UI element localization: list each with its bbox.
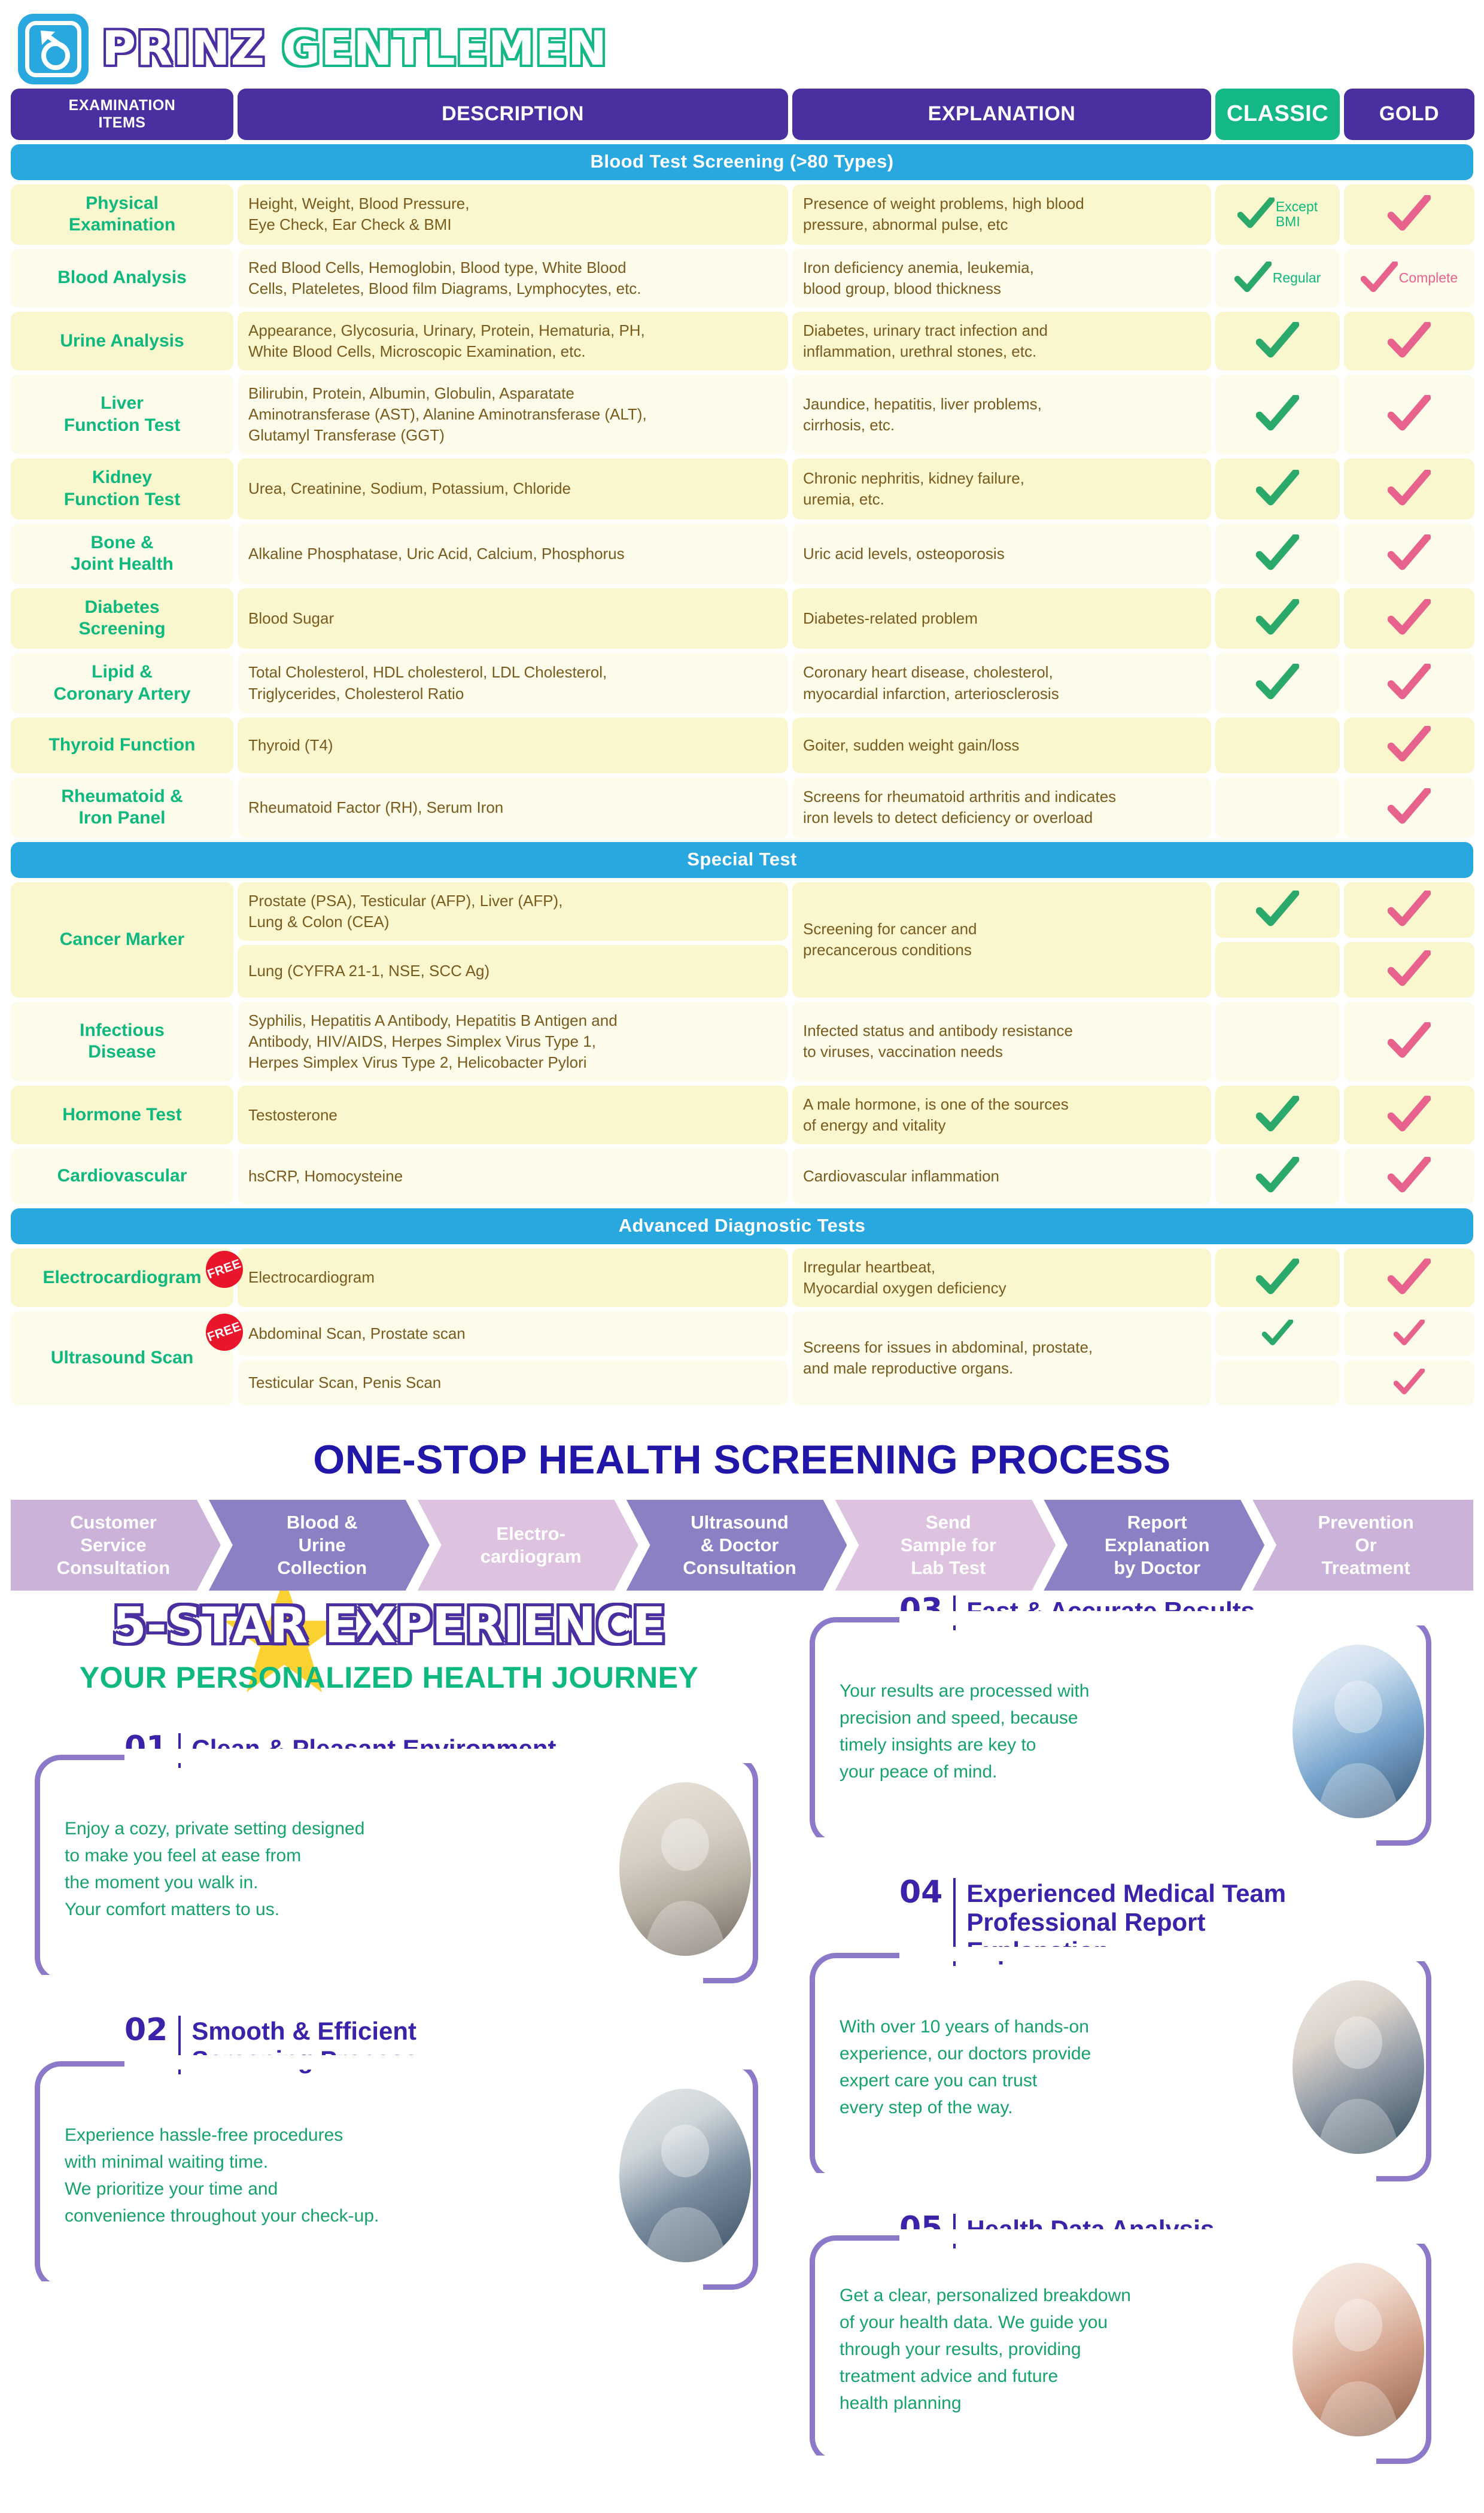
table-row-description: Syphilis, Hepatitis A Antibody, Hepatiti… xyxy=(238,1002,788,1081)
gold-check-cell xyxy=(1344,777,1474,838)
gold-check-cell xyxy=(1344,882,1474,938)
classic-check-cell xyxy=(1215,718,1340,773)
table-row-item: InfectiousDisease xyxy=(11,1002,233,1081)
table-row-description: Rheumatoid Factor (RH), Serum Iron xyxy=(238,777,788,838)
process-step[interactable]: Ultrasound& DoctorConsultation xyxy=(627,1500,847,1591)
brand-name-gentlemen: GENTLEMEN xyxy=(282,22,607,76)
table-row: Lipid &Coronary Artery Total Cholesterol… xyxy=(11,653,1473,713)
header-examination-items: EXAMINATION ITEMS xyxy=(11,89,233,140)
photo-figure xyxy=(1293,2263,1424,2436)
gold-check-cell xyxy=(1344,312,1474,370)
gold-check-cell xyxy=(1344,458,1474,519)
table-row-item: Cancer Marker xyxy=(11,882,233,998)
process-step[interactable]: ReportExplanationby Doctor xyxy=(1044,1500,1264,1591)
classic-check-cell xyxy=(1215,1086,1340,1144)
feature-text: With over 10 years of hands-onexperience… xyxy=(840,2013,1282,2121)
process-step[interactable]: CustomerServiceConsultation xyxy=(11,1500,221,1591)
table-row-description: Testosterone xyxy=(238,1086,788,1144)
table-row-description: Red Blood Cells, Hemoglobin, Blood type,… xyxy=(238,249,788,308)
table-row-item: Ultrasound ScanFREE xyxy=(11,1311,233,1405)
gold-check-cell xyxy=(1344,718,1474,773)
feature-text: Experience hassle-free procedureswith mi… xyxy=(65,2122,609,2229)
feature-card-body: Get a clear, personalized breakdownof yo… xyxy=(793,2235,1466,2464)
feature-card-body: Enjoy a cozy, private setting designedto… xyxy=(18,1755,793,1983)
feature-number: 02 xyxy=(124,2014,168,2046)
classic-check-cell xyxy=(1215,882,1340,938)
table-row-description: hsCRP, Homocysteine xyxy=(238,1148,788,1204)
table-row-description: Total Cholesterol, HDL cholesterol, LDL … xyxy=(238,653,788,713)
clinic-lounge-photo xyxy=(619,1782,751,1956)
five-star-heading: 5-STAR EXPERIENCE YOUR PERSONALIZED HEAL… xyxy=(18,1591,760,1695)
table-row-item: LiverFunction Test xyxy=(11,375,233,454)
section-band: Special Test xyxy=(11,842,1473,878)
section-band: Advanced Diagnostic Tests xyxy=(11,1208,1473,1244)
process-step[interactable]: PreventionOrTreatment xyxy=(1252,1500,1473,1591)
doctor-consult-photo xyxy=(1293,1980,1424,2154)
table-row: Cardiovascular hsCRP, Homocysteine Cardi… xyxy=(11,1148,1473,1204)
table-row-explanation: Screening for cancer andprecancerous con… xyxy=(792,882,1211,998)
table-row-explanation: Diabetes-related problem xyxy=(792,588,1211,649)
table-row-item: Rheumatoid &Iron Panel xyxy=(11,777,233,838)
feature-card-body: Experience hassle-free procedureswith mi… xyxy=(18,2061,793,2290)
table-row-item: DiabetesScreening xyxy=(11,588,233,649)
table-row-description: Alkaline Phosphatase, Uric Acid, Calcium… xyxy=(238,524,788,584)
table-row-item: Bone &Joint Health xyxy=(11,524,233,584)
feature-card-body: With over 10 years of hands-onexperience… xyxy=(793,1953,1466,2181)
table-row: Hormone Test Testosterone A male hormone… xyxy=(11,1086,1473,1144)
gold-check-cell xyxy=(1344,1086,1474,1144)
male-symbol-icon xyxy=(18,14,89,84)
feature-card-body: Your results are processed withprecision… xyxy=(793,1617,1466,1846)
gold-check-cell xyxy=(1344,1002,1474,1081)
feature-text: Your results are processed withprecision… xyxy=(840,1678,1282,1785)
process-step[interactable]: SendSample forLab Test xyxy=(835,1500,1056,1591)
table-row-description: Blood Sugar xyxy=(238,588,788,649)
classic-check-cell xyxy=(1215,942,1340,998)
table-row-explanation: Infected status and antibody resistancet… xyxy=(792,1002,1211,1081)
table-row-description: Lung (CYFRA 21-1, NSE, SCC Ag) xyxy=(238,945,788,997)
gold-check-cell xyxy=(1344,1360,1474,1405)
table-row-explanation: Goiter, sudden weight gain/loss xyxy=(792,718,1211,773)
feature-card: 02 Smooth & EfficientScreening Process E… xyxy=(18,2014,793,2290)
gold-check-cell xyxy=(1344,184,1474,245)
table-row: LiverFunction Test Bilirubin, Protein, A… xyxy=(11,375,1473,454)
table-row-item: PhysicalExamination xyxy=(11,184,233,245)
feature-card: 01 Clean & Pleasant Environment Enjoy a … xyxy=(18,1732,793,1983)
table-row: Bone &Joint Health Alkaline Phosphatase,… xyxy=(11,524,1473,584)
gold-check-cell: Complete xyxy=(1344,249,1474,308)
feature-text: Get a clear, personalized breakdownof yo… xyxy=(840,2282,1282,2417)
table-row: PhysicalExamination Height, Weight, Bloo… xyxy=(11,184,1473,245)
table-row: InfectiousDisease Syphilis, Hepatitis A … xyxy=(11,1002,1473,1081)
doctor-ultrasound-photo xyxy=(619,2089,751,2262)
table-row-item: Blood Analysis xyxy=(11,249,233,308)
brand-name-prinz: PRINZ xyxy=(102,22,265,76)
gold-check-cell xyxy=(1344,588,1474,649)
classic-check-note: ExceptBMI xyxy=(1276,199,1318,230)
patient-review-photo xyxy=(1293,2263,1424,2436)
table-row-description: Prostate (PSA), Testicular (AFP), Liver … xyxy=(238,882,788,941)
classic-check-cell xyxy=(1215,588,1340,649)
infographic-page: PRINZ GENTLEMEN EXAMINATION ITEMS DESCRI… xyxy=(0,0,1484,2513)
table-row-item: Lipid &Coronary Artery xyxy=(11,653,233,713)
table-row-explanation: Irregular heartbeat,Myocardial oxygen de… xyxy=(792,1248,1211,1307)
header-classic: CLASSIC xyxy=(1215,89,1340,140)
feature-card: 05 Health Data Analysis Get a clear, per… xyxy=(793,2213,1466,2464)
gold-check-cell xyxy=(1344,653,1474,713)
classic-check-cell xyxy=(1215,1002,1340,1081)
table-row-item: Thyroid Function xyxy=(11,718,233,773)
header-description: DESCRIPTION xyxy=(238,89,788,140)
five-star-title: 5-STAR EXPERIENCE xyxy=(18,1602,760,1651)
experience-right-column: 03 Fast & Accurate Results Your results … xyxy=(793,1591,1466,2495)
table-row-description: Height, Weight, Blood Pressure,Eye Check… xyxy=(238,184,788,245)
classic-check-cell: ExceptBMI xyxy=(1215,184,1340,245)
header-explanation: EXPLANATION xyxy=(792,89,1211,140)
table-row-description: Testicular Scan, Penis Scan xyxy=(238,1360,788,1405)
gold-check-note: Complete xyxy=(1399,271,1458,285)
table-row: Urine Analysis Appearance, Glycosuria, U… xyxy=(11,312,1473,370)
table-row-description: Abdominal Scan, Prostate scan xyxy=(238,1311,788,1356)
classic-check-cell xyxy=(1215,653,1340,713)
table-row-description: Electrocardiogram xyxy=(238,1248,788,1307)
male-symbol-glyph xyxy=(18,14,89,84)
table-row-explanation: Jaundice, hepatitis, liver problems,cirr… xyxy=(792,375,1211,454)
classic-check-cell xyxy=(1215,458,1340,519)
table-row-description: Thyroid (T4) xyxy=(238,718,788,773)
feature-card: 04 Experienced Medical TeamProfessional … xyxy=(793,1877,1466,2181)
table-row-description: Urea, Creatinine, Sodium, Potassium, Chl… xyxy=(238,458,788,519)
table-row-item: Hormone Test xyxy=(11,1086,233,1144)
table-row-item: Cardiovascular xyxy=(11,1148,233,1204)
table-row-explanation: Uric acid levels, osteoporosis xyxy=(792,524,1211,584)
section-band: Blood Test Screening (>80 Types) xyxy=(11,144,1473,180)
gold-check-cell xyxy=(1344,524,1474,584)
table-row: ElectrocardiogramFREE Electrocardiogram … xyxy=(11,1248,1473,1307)
photo-figure xyxy=(619,1782,751,1956)
classic-check-cell xyxy=(1215,1311,1340,1356)
process-step[interactable]: Blood &UrineCollection xyxy=(209,1500,430,1591)
gold-check-cell xyxy=(1344,1248,1474,1307)
table-row: Thyroid Function Thyroid (T4) Goiter, su… xyxy=(11,718,1473,773)
gold-check-cell xyxy=(1344,1311,1474,1356)
photo-figure xyxy=(1293,1645,1424,1818)
table-row-explanation: Presence of weight problems, high bloodp… xyxy=(792,184,1211,245)
table-row-explanation: Coronary heart disease, cholesterol,myoc… xyxy=(792,653,1211,713)
classic-check-cell xyxy=(1215,312,1340,370)
photo-figure xyxy=(1293,1980,1424,2154)
table-row-explanation: Screens for rheumatoid arthritis and ind… xyxy=(792,777,1211,838)
comparison-table: EXAMINATION ITEMS DESCRIPTION EXPLANATIO… xyxy=(0,89,1484,1405)
table-header-row: EXAMINATION ITEMS DESCRIPTION EXPLANATIO… xyxy=(11,89,1473,140)
table-row: Rheumatoid &Iron Panel Rheumatoid Factor… xyxy=(11,777,1473,838)
process-step[interactable]: Electro-cardiogram xyxy=(418,1500,638,1591)
brand-header: PRINZ GENTLEMEN xyxy=(0,0,1484,89)
table-row: Ultrasound ScanFREE Abdominal Scan, Pros… xyxy=(11,1311,1473,1405)
table-row-explanation: Chronic nephritis, kidney failure,uremia… xyxy=(792,458,1211,519)
header-gold: GOLD xyxy=(1344,89,1474,140)
table-row-explanation: Screens for issues in abdominal, prostat… xyxy=(792,1311,1211,1405)
process-title: ONE-STOP HEALTH SCREENING PROCESS xyxy=(0,1436,1484,1483)
classic-check-cell xyxy=(1215,1360,1340,1405)
table-row-item: ElectrocardiogramFREE xyxy=(11,1248,233,1307)
table-row-description: Bilirubin, Protein, Albumin, Globulin, A… xyxy=(238,375,788,454)
gold-check-cell xyxy=(1344,375,1474,454)
table-row-item: Urine Analysis xyxy=(11,312,233,370)
classic-check-cell xyxy=(1215,1148,1340,1204)
feature-number: 04 xyxy=(899,1877,942,1908)
classic-check-cell xyxy=(1215,375,1340,454)
table-row-description: Appearance, Glycosuria, Urinary, Protein… xyxy=(238,312,788,370)
table-row: Cancer Marker Prostate (PSA), Testicular… xyxy=(11,882,1473,998)
gold-check-cell xyxy=(1344,1148,1474,1204)
classic-check-cell: Regular xyxy=(1215,249,1340,308)
classic-check-cell xyxy=(1215,1248,1340,1307)
table-row-explanation: A male hormone, is one of the sourcesof … xyxy=(792,1086,1211,1144)
table-row-explanation: Diabetes, urinary tract infection andinf… xyxy=(792,312,1211,370)
gold-check-cell xyxy=(1344,942,1474,998)
table-row-explanation: Iron deficiency anemia, leukemia,blood g… xyxy=(792,249,1211,308)
table-row-explanation: Cardiovascular inflammation xyxy=(792,1148,1211,1204)
photo-figure xyxy=(619,2089,751,2262)
lab-technician-photo xyxy=(1293,1645,1424,1818)
classic-check-cell xyxy=(1215,777,1340,838)
table-row: KidneyFunction Test Urea, Creatinine, So… xyxy=(11,458,1473,519)
classic-check-note: Regular xyxy=(1273,271,1321,285)
table-row: Blood Analysis Red Blood Cells, Hemoglob… xyxy=(11,249,1473,308)
classic-check-cell xyxy=(1215,524,1340,584)
table-row: DiabetesScreening Blood Sugar Diabetes-r… xyxy=(11,588,1473,649)
table-row-item: KidneyFunction Test xyxy=(11,458,233,519)
five-star-subtitle: YOUR PERSONALIZED HEALTH JOURNEY xyxy=(18,1660,760,1695)
feature-text: Enjoy a cozy, private setting designedto… xyxy=(65,1815,609,1923)
process-flow: CustomerServiceConsultation Blood &Urine… xyxy=(0,1500,1484,1591)
experience-section: 5-STAR EXPERIENCE YOUR PERSONALIZED HEAL… xyxy=(0,1591,1484,2495)
brand-title: PRINZ GENTLEMEN xyxy=(102,26,607,72)
feature-card: 03 Fast & Accurate Results Your results … xyxy=(793,1594,1466,1846)
experience-left-column: 5-STAR EXPERIENCE YOUR PERSONALIZED HEAL… xyxy=(18,1591,793,2495)
